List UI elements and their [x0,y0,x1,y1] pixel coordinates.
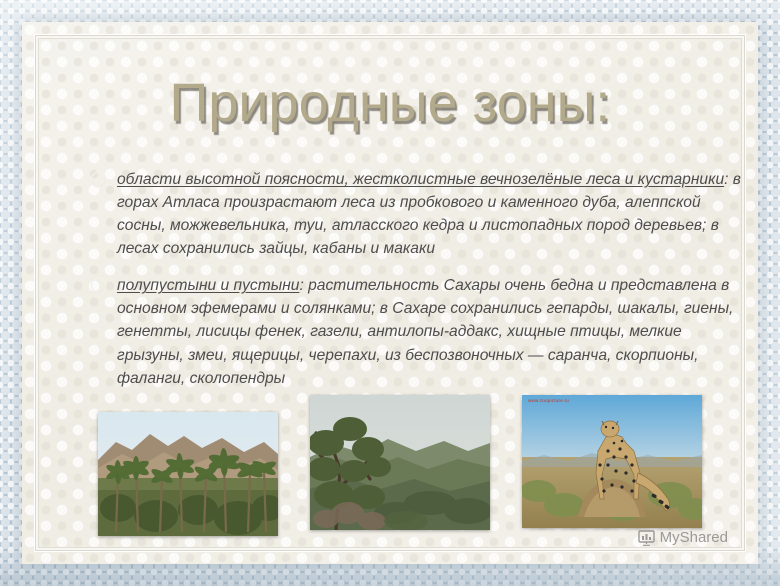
presentation-slide: Природные зоны: области высотной пояснос… [0,0,780,586]
presentation-chart-icon [638,530,655,546]
photo-credit-watermark: www.zoopicture.ru [528,398,569,403]
gear-bullet-icon [92,279,105,292]
gear-bullet-icon [92,173,105,186]
myshared-watermark: MyShared [638,529,728,546]
page-title: Природные зоны: [22,76,758,130]
bullet-text: полупустыни и пустыни: растительность Са… [117,274,742,389]
bullet-text: области высотной поясности, жестколистны… [117,168,742,260]
bullet-lead-term: области высотной поясности, жестколистны… [117,171,724,188]
slide-canvas: Природные зоны: области высотной пояснос… [22,22,758,564]
mountain-forest-image [310,395,490,530]
palm-oasis-photo [98,412,278,536]
cheetah-image [522,395,702,528]
bullet-list: области высотной поясности, жестколистны… [92,168,742,404]
myshared-label: MyShared [660,529,728,546]
palm-oasis-image [98,412,278,536]
list-item: области высотной поясности, жестколистны… [92,168,742,260]
list-item: полупустыни и пустыни: растительность Са… [92,274,742,389]
mountain-forest-photo [310,395,490,530]
cheetah-photo: www.zoopicture.ru [522,395,702,528]
bullet-lead-term: полупустыни и пустыни [117,277,299,294]
